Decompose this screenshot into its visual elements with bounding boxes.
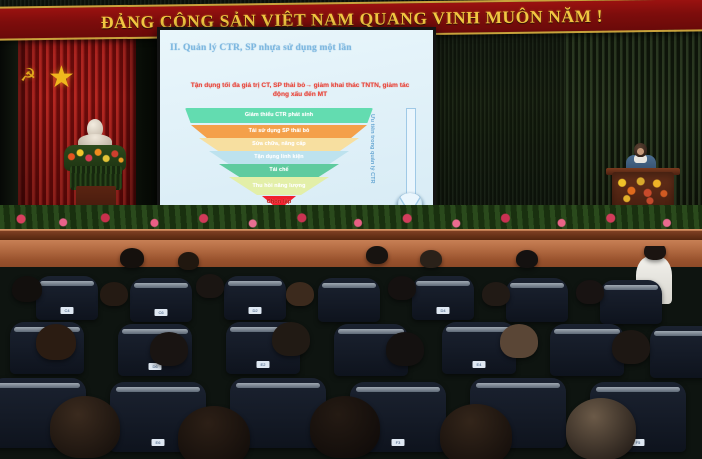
- seat[interactable]: C6: [130, 278, 192, 322]
- seat-tag: C6: [155, 309, 168, 316]
- audience-head: [516, 250, 538, 268]
- auditorium-photo: ☭ ★ ĐẢNG CỘNG SẢN VIỆT NAM QUANG VINH MU…: [0, 0, 702, 459]
- audience-head: [196, 274, 224, 298]
- speaker-face: [637, 148, 644, 155]
- funnel-layer-2-label: Tái sử dụng SP thải bỏ: [249, 128, 310, 135]
- funnel-layer-4: Tận dụng linh kiện: [209, 151, 349, 164]
- audience-head: [286, 282, 314, 306]
- funnel-layer-3: Sửa chữa, nâng cấp: [199, 138, 359, 151]
- audience-head: [272, 322, 310, 356]
- funnel-layer-2: Tái sử dụng SP thải bỏ: [191, 125, 367, 138]
- audience-head: [150, 332, 188, 366]
- audience-head: [178, 252, 199, 270]
- funnel-layer-6-label: Thu hồi năng lượng: [253, 183, 306, 190]
- funnel-layer-5-label: Tái chế: [269, 167, 288, 174]
- funnel-layer-4-label: Tận dụng linh kiện: [254, 154, 303, 161]
- seat[interactable]: [506, 278, 568, 322]
- slide-title: II. Quản lý CTR, SP nhựa sử dụng một lần: [170, 43, 352, 53]
- seat[interactable]: D2: [224, 276, 286, 320]
- hammer-sickle-icon: ☭: [20, 66, 36, 84]
- seat-tag: D2: [249, 307, 262, 314]
- funnel-layer-1-label: Giảm thiểu CTR phát sinh: [245, 112, 313, 119]
- presentation-slide: II. Quản lý CTR, SP nhựa sử dụng một lần…: [160, 30, 433, 227]
- curtain-shadow-mid: [136, 26, 158, 234]
- slide-subtitle: Tận dụng tối đa giá trị CT, SP thải bỏ→ …: [184, 82, 416, 100]
- seat[interactable]: [318, 278, 380, 322]
- audience-head: [644, 246, 666, 260]
- seat[interactable]: [650, 326, 702, 378]
- seat[interactable]: C4: [36, 276, 98, 320]
- funnel-layer-1: Giảm thiểu CTR phát sinh: [185, 108, 373, 123]
- audience-head: [500, 324, 538, 358]
- seat[interactable]: D4: [412, 276, 474, 320]
- audience-head: [12, 276, 42, 302]
- audience-head-foreground: [440, 404, 512, 459]
- audience-head-foreground: [310, 396, 380, 458]
- audience-head-foreground: [178, 406, 250, 459]
- waste-hierarchy-funnel: Giảm thiểu CTR phát sinh Tái sử dụng SP …: [184, 108, 374, 209]
- funnel-layer-6: Thu hồi năng lượng: [229, 177, 329, 195]
- seat-tag: E2: [257, 361, 270, 368]
- audience-head: [612, 330, 650, 364]
- audience-head-foreground: [566, 398, 636, 459]
- seat-tag: E6: [152, 439, 165, 446]
- priority-arrow: Ưu tiên trong quản lý CTR: [397, 108, 423, 218]
- seat-tag: C4: [61, 307, 74, 314]
- seat-tag: E4: [473, 361, 486, 368]
- curtain-shadow-left: [0, 26, 20, 234]
- funnel-layer-5: Tái chế: [219, 164, 339, 177]
- audience-head: [420, 250, 442, 268]
- audience-head: [100, 282, 128, 306]
- seat-tag: D4: [437, 307, 450, 314]
- priority-arrow-label: Ưu tiên trong quản lý CTR: [369, 114, 375, 184]
- funnel-layer-7-label: Chôn lấp: [267, 199, 292, 206]
- podium-flowers: [614, 172, 672, 208]
- funnel-layer-3-label: Sửa chữa, nâng cấp: [252, 141, 306, 148]
- audience-head-foreground: [50, 396, 120, 458]
- audience-head: [366, 246, 388, 264]
- audience-head: [386, 332, 424, 366]
- seat[interactable]: [600, 280, 662, 324]
- audience-head: [576, 280, 604, 304]
- audience-head: [36, 324, 76, 360]
- seat-tag: F3: [392, 439, 405, 446]
- audience-head: [388, 276, 416, 300]
- projection-screen-frame: II. Quản lý CTR, SP nhựa sử dụng một lần…: [157, 27, 436, 230]
- back-rail: [0, 231, 702, 240]
- audience-head: [120, 248, 144, 268]
- priority-arrow-bar: [406, 108, 416, 196]
- audience-seating: C4 C6 D2 D4 D6 E2 E4 E6 F3: [0, 246, 702, 459]
- audience-head: [482, 282, 510, 306]
